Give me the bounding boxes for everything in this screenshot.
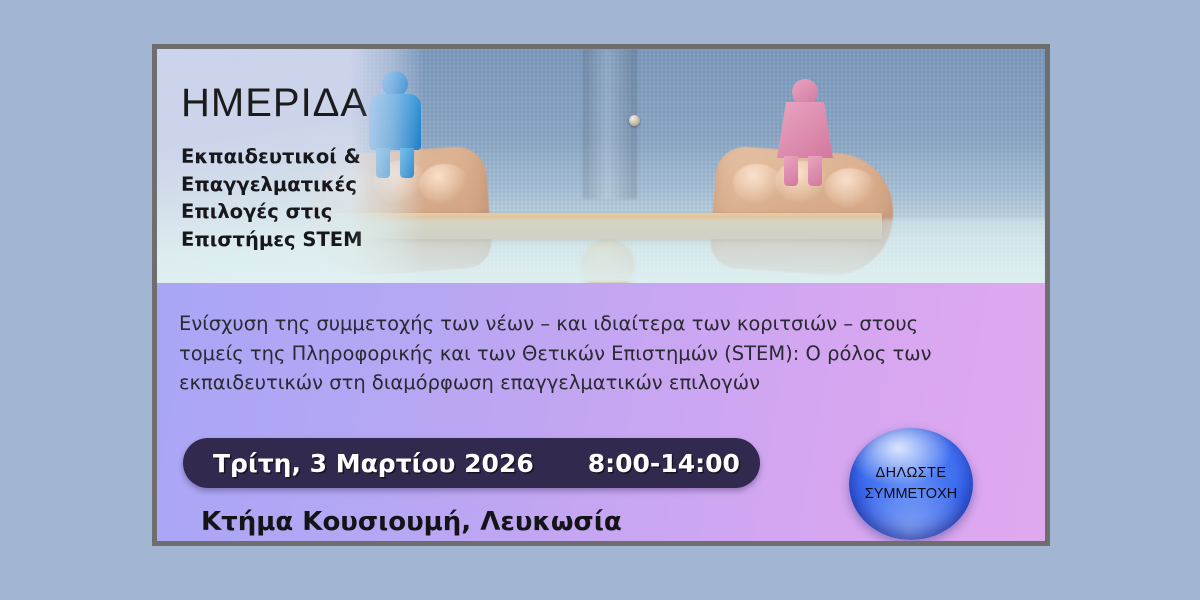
register-button-label-line2: ΣΥΜΜΕΤΟΧΗ [865, 484, 957, 505]
female-figurine-icon [777, 79, 833, 186]
event-date: Τρίτη, 3 Μαρτίου 2026 [213, 449, 534, 478]
description-line: τομείς της Πληροφορικής και των Θετικών … [179, 339, 1024, 369]
subtitle-line: Επιλογές στις [181, 198, 425, 226]
description-line: εκπαιδευτικών στη διαμόρφωση επαγγελματι… [179, 368, 1024, 398]
description-line: Ενίσχυση της συμμετοχής των νέων – και ι… [179, 309, 1024, 339]
event-description: Ενίσχυση της συμμετοχής των νέων – και ι… [179, 309, 1024, 398]
shirt-placket [583, 49, 637, 199]
event-poster-card: ΗΜΕΡΙΔΑ Εκπαιδευτικοί & Επαγγελματικές Ε… [152, 44, 1050, 546]
knuckle [418, 162, 471, 205]
page-title: ΗΜΕΡΙΔΑ [181, 83, 425, 123]
register-button-label-line1: ΔΗΛΩΣΤΕ [876, 463, 947, 484]
subtitle-line: Εκπαιδευτικοί & [181, 143, 425, 171]
hero-photo: ΗΜΕΡΙΔΑ Εκπαιδευτικοί & Επαγγελματικές Ε… [157, 49, 1045, 283]
datetime-badge: Τρίτη, 3 Μαρτίου 2026 8:00-14:00 [183, 438, 760, 488]
title-panel: ΗΜΕΡΙΔΑ Εκπαιδευτικοί & Επαγγελματικές Ε… [157, 49, 425, 283]
register-button[interactable]: ΔΗΛΩΣΤΕ ΣΥΜΜΕΤΟΧΗ [849, 428, 973, 540]
subtitle-line: Επαγγελματικές [181, 171, 425, 199]
subtitle-line: Επιστήμες STEM [181, 226, 425, 254]
poster-subtitle: Εκπαιδευτικοί & Επαγγελματικές Επιλογές … [181, 143, 425, 254]
details-panel: Ενίσχυση της συμμετοχής των νέων – και ι… [157, 283, 1045, 541]
event-time: 8:00-14:00 [588, 449, 740, 478]
event-venue: Κτήμα Κουσιουμή, Λευκωσία [201, 507, 622, 537]
